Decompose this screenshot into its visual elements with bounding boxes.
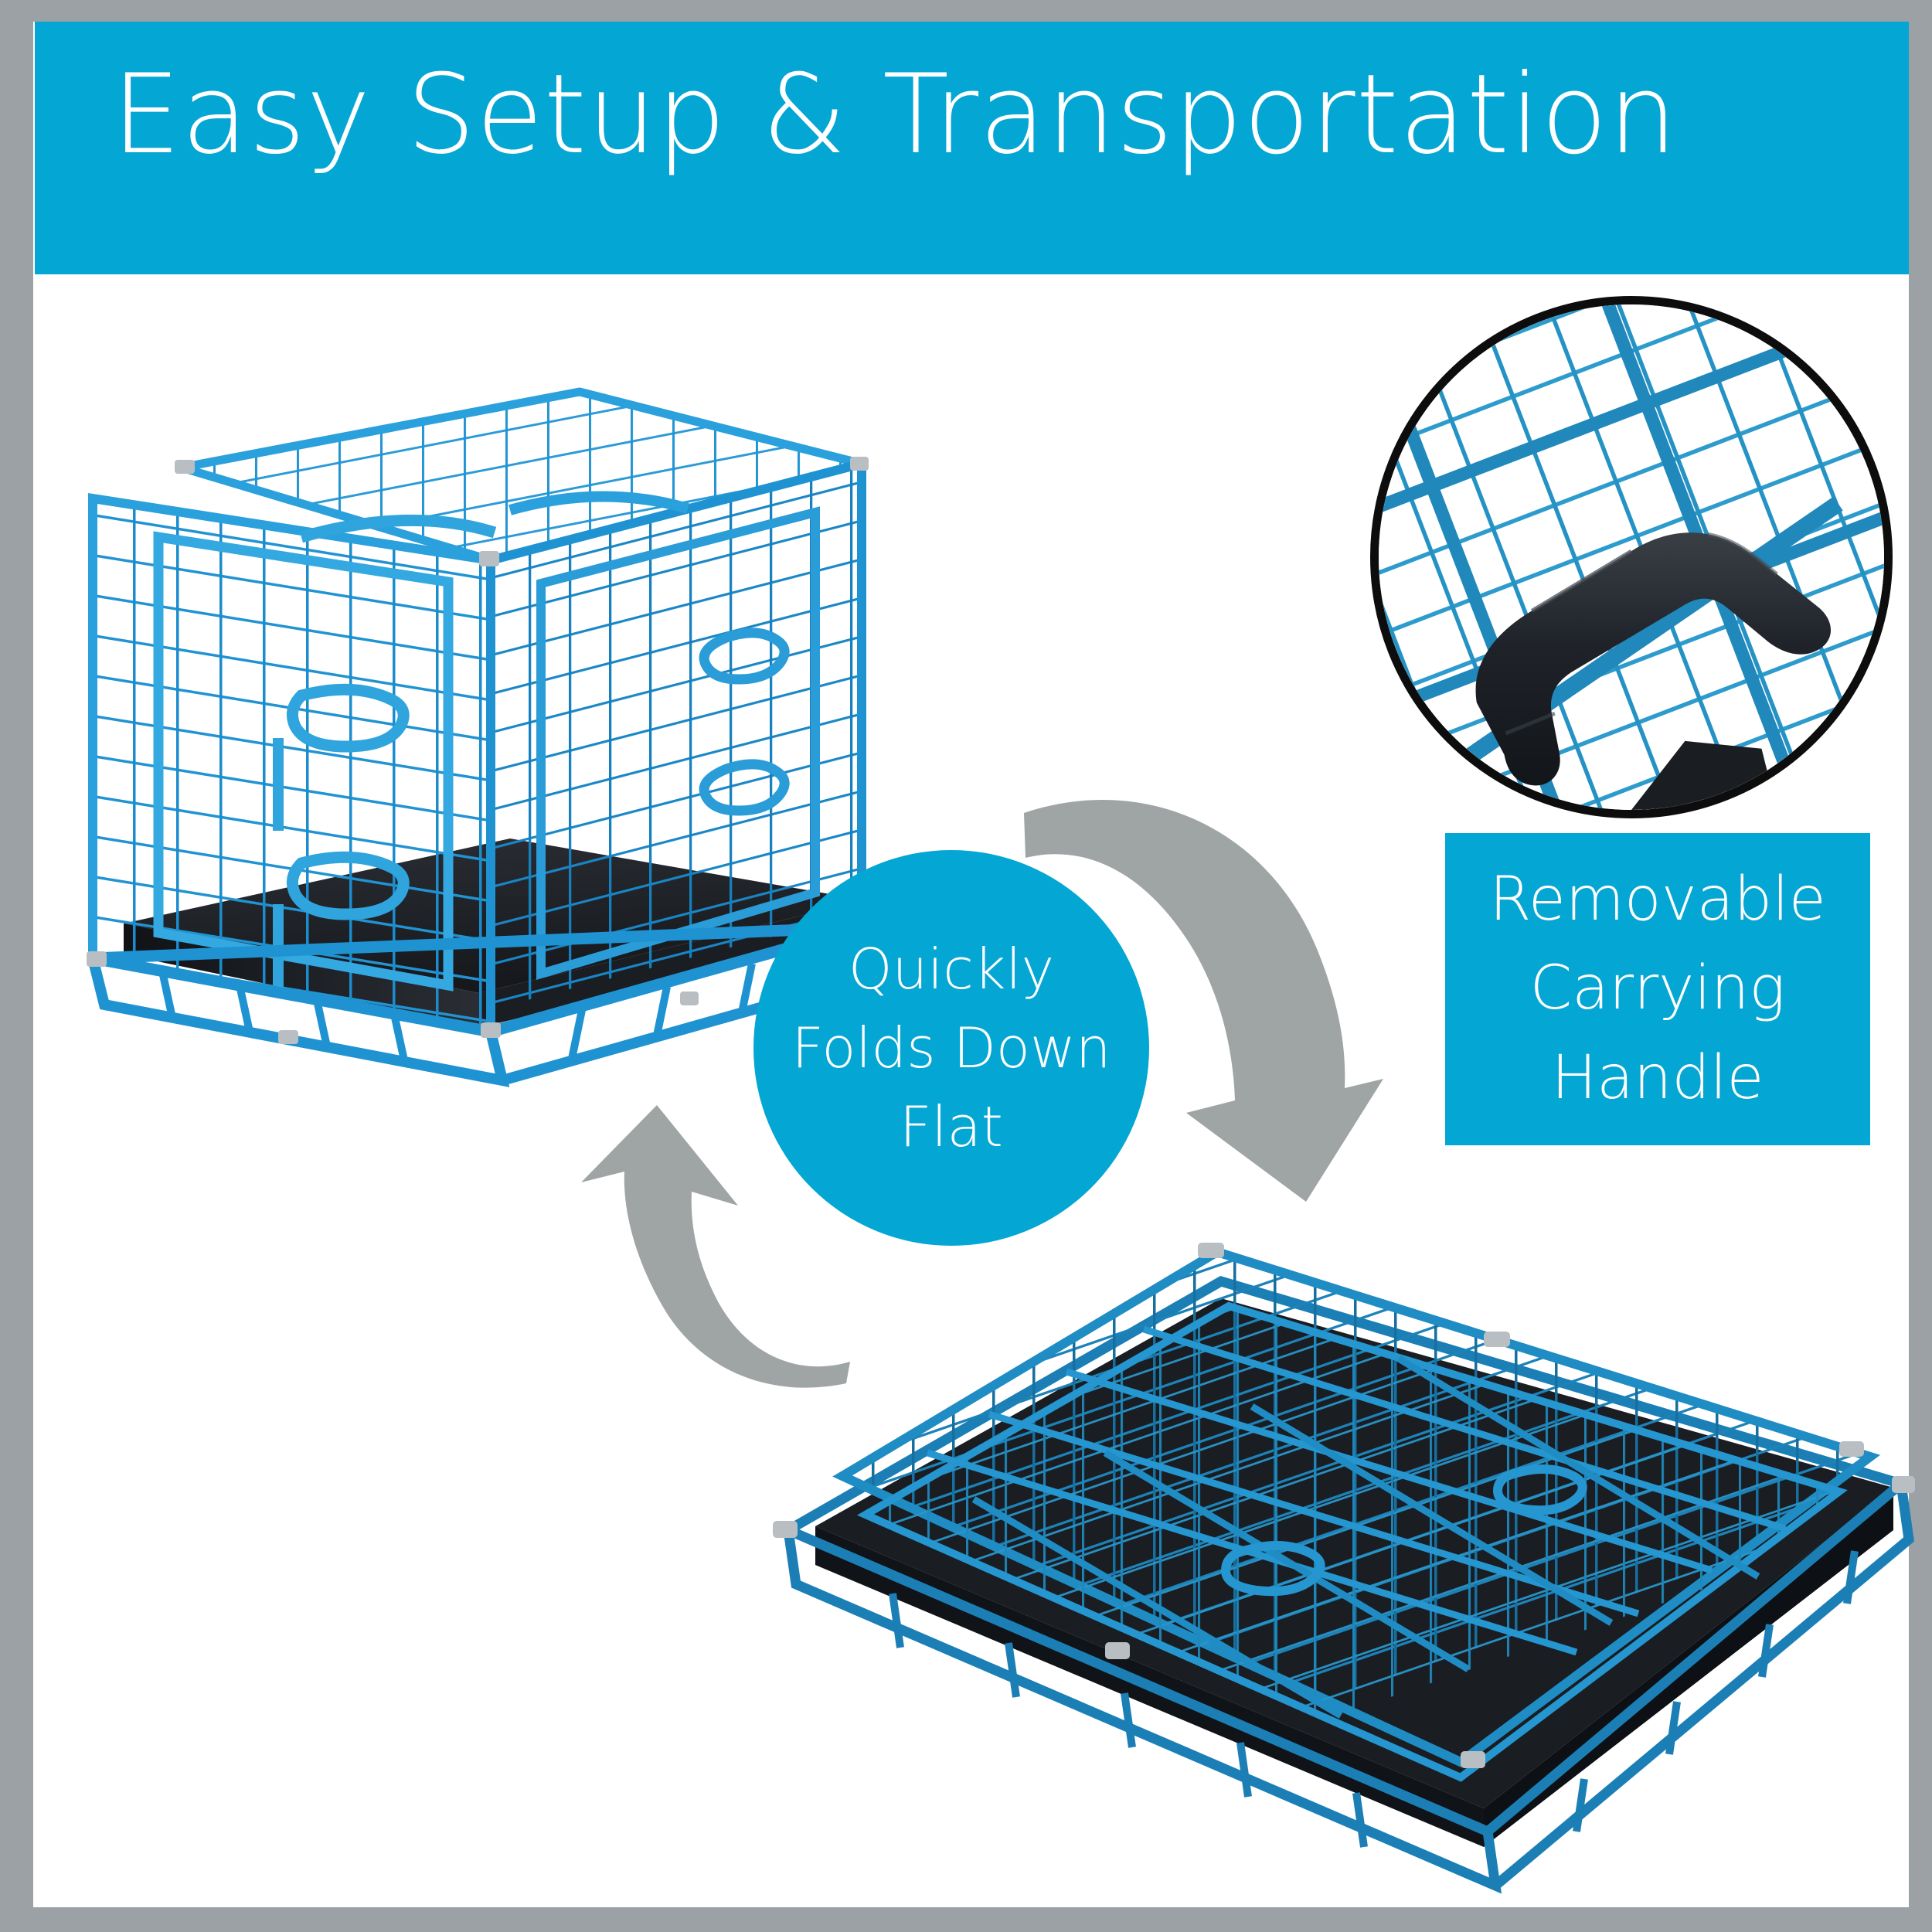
infographic-canvas: Easy Setup & Transportation [0,0,1932,1932]
badge-line-1: Quickly [849,930,1054,1009]
quickly-folds-down-flat-badge: Quickly Folds Down Flat [753,850,1149,1246]
badge-line-2: Folds Down [791,1009,1111,1087]
removable-carrying-handle-label: Removable Carrying Handle [1445,833,1870,1145]
badge-line-3: Flat [900,1087,1003,1166]
carrying-handle-detail-photo [1370,296,1893,818]
page-title: Easy Setup & Transportation [112,60,1826,170]
label-line-3: Handle [1551,1034,1764,1123]
header-banner: Easy Setup & Transportation [35,22,1909,274]
label-line-2: Carrying [1530,944,1785,1033]
label-line-1: Removable [1489,855,1826,944]
folded-dog-crate-photo [742,1221,1924,1917]
